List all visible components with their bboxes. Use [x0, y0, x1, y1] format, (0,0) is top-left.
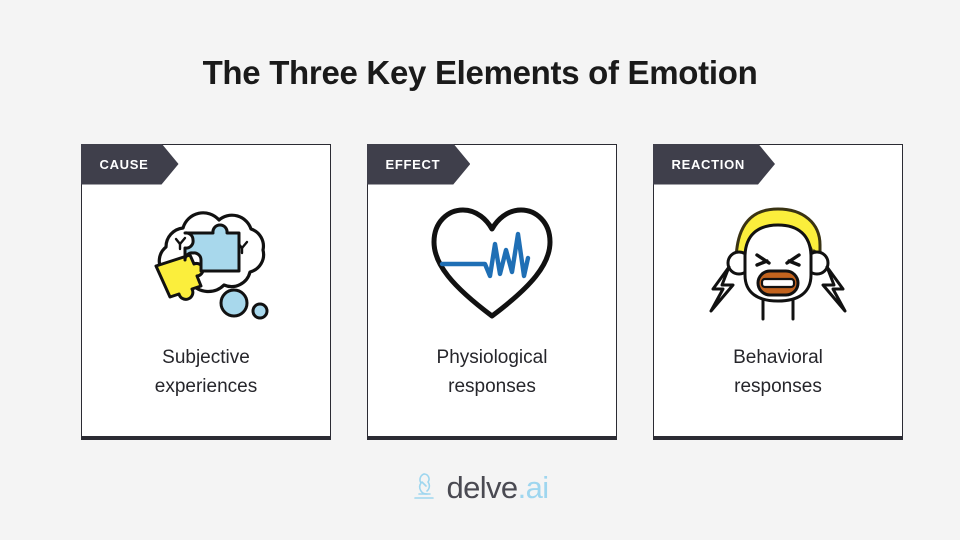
footer-logo[interactable]: delve.ai	[0, 470, 960, 506]
card-caption-reaction: Behavioral responses	[733, 343, 823, 401]
page-title: The Three Key Elements of Emotion	[0, 54, 960, 92]
logo-wordmark: delve.ai	[446, 470, 548, 506]
ribbon-label-reaction: REACTION	[653, 144, 776, 185]
caption-line-2: responses	[733, 372, 823, 401]
logo-name: delve	[446, 470, 517, 505]
caption-line-1: Subjective	[162, 347, 250, 368]
ribbon-label-effect: EFFECT	[367, 144, 471, 185]
cards-row: CAUSE	[81, 144, 903, 440]
caption-line-2: responses	[437, 372, 548, 401]
thought-cloud-puzzle-icon	[126, 199, 286, 329]
caption-line-2: experiences	[155, 372, 257, 401]
heart-ecg-icon	[428, 199, 556, 329]
card-effect[interactable]: EFFECT Physiological responses	[367, 144, 617, 440]
logo-suffix: .ai	[518, 470, 549, 505]
microscope-icon	[411, 471, 437, 506]
card-caption-effect: Physiological responses	[437, 343, 548, 401]
card-cause[interactable]: CAUSE	[81, 144, 331, 440]
caption-line-1: Physiological	[437, 347, 548, 368]
card-reaction[interactable]: REACTION	[653, 144, 903, 440]
card-caption-cause: Subjective experiences	[155, 343, 257, 401]
angry-face-lightning-icon	[703, 199, 853, 329]
ribbon-label-cause: CAUSE	[81, 144, 179, 185]
caption-line-1: Behavioral	[733, 347, 823, 368]
